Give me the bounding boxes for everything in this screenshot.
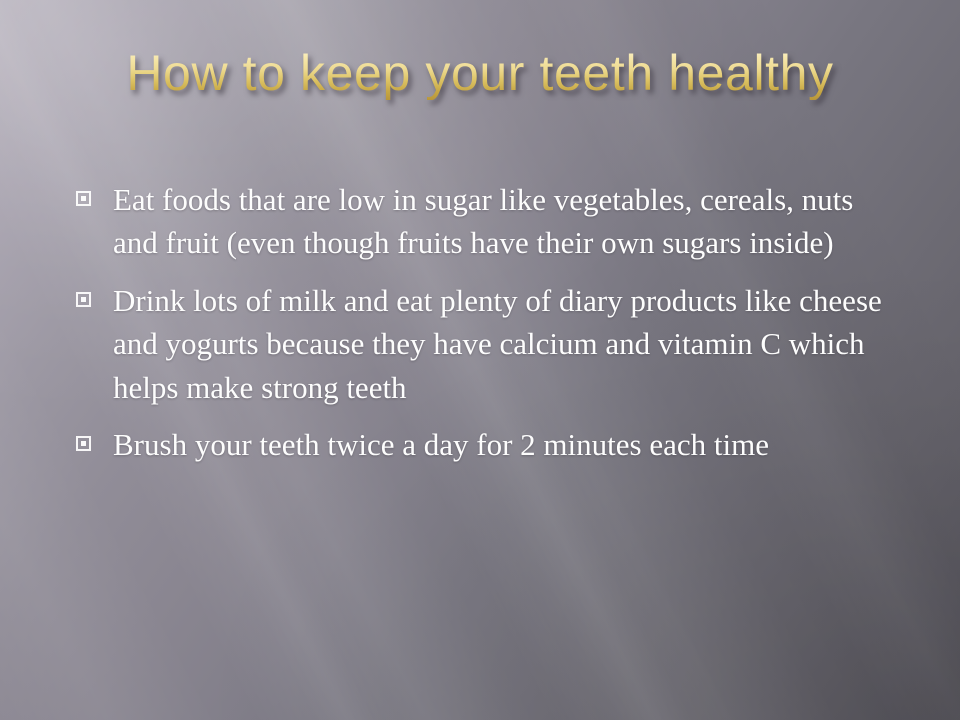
presentation-slide: How to keep your teeth healthy Eat foods… (0, 0, 960, 720)
list-item: Brush your teeth twice a day for 2 minut… (76, 423, 932, 466)
slide-title-container: How to keep your teeth healthy (0, 46, 960, 100)
slide-body-bullet-list: Eat foods that are low in sugar like veg… (76, 178, 932, 466)
list-item-text: Brush your teeth twice a day for 2 minut… (113, 423, 903, 466)
square-outline-bullet-icon (76, 292, 91, 307)
square-outline-bullet-icon (76, 191, 91, 206)
square-outline-bullet-icon (76, 436, 91, 451)
list-item-text: Drink lots of milk and eat plenty of dia… (113, 279, 903, 409)
list-item: Drink lots of milk and eat plenty of dia… (76, 279, 932, 409)
list-item: Eat foods that are low in sugar like veg… (76, 178, 932, 265)
slide-title: How to keep your teeth healthy (126, 46, 833, 100)
list-item-text: Eat foods that are low in sugar like veg… (113, 178, 903, 265)
